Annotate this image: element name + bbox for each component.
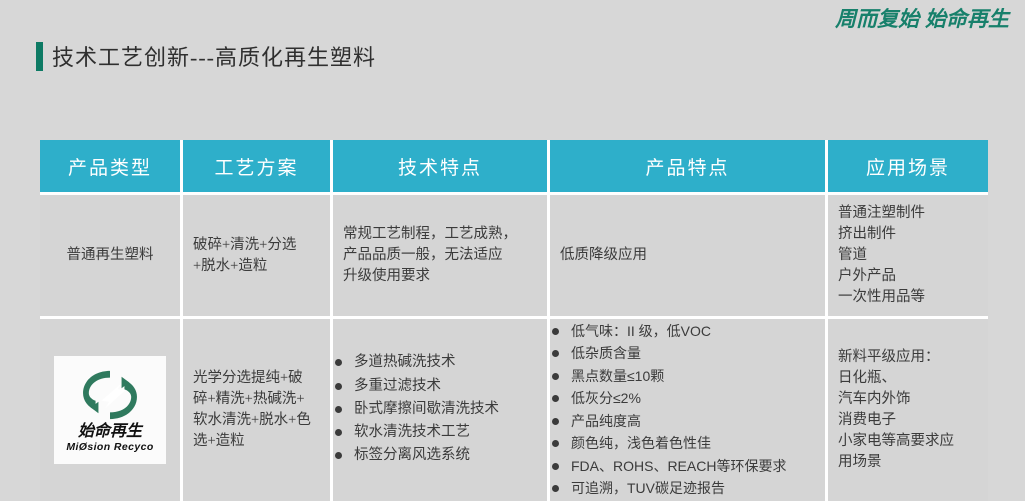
table-row: 普通再生塑料 破碎+清洗+分选 +脱水+造粒 常规工艺制程，工艺成熟， 产品品质… bbox=[40, 195, 988, 319]
application-line: 汽车内外饰 bbox=[838, 389, 978, 410]
column-header-applications: 应用场景 bbox=[828, 140, 988, 195]
table-header-row: 产品类型 工艺方案 技术特点 产品特点 应用场景 bbox=[40, 140, 988, 195]
cell-product-type: 普通再生塑料 bbox=[40, 195, 183, 319]
list-item: 多道热碱洗技术 bbox=[335, 352, 547, 374]
process-line: 选+造粒 bbox=[193, 431, 320, 452]
tech-feature-line: 升级使用要求 bbox=[343, 266, 537, 287]
process-line: 破碎+清洗+分选 bbox=[193, 235, 320, 256]
list-item: 卧式摩擦间歇清洗技术 bbox=[335, 399, 547, 421]
application-line: 消费电子 bbox=[838, 410, 978, 431]
slide-title-row: 技术工艺创新---高质化再生塑料 bbox=[36, 40, 376, 72]
application-line: 挤出制件 bbox=[838, 224, 978, 245]
list-item: 软水清洗技术工艺 bbox=[335, 422, 547, 444]
application-line: 新料平级应用： bbox=[838, 347, 978, 368]
cell-tech-features: 常规工艺制程，工艺成熟， 产品品质一般，无法适应 升级使用要求 bbox=[333, 195, 550, 319]
column-header-product-features: 产品特点 bbox=[550, 140, 828, 195]
comparison-table-wrapper: 产品类型 工艺方案 技术特点 产品特点 应用场景 普通 bbox=[40, 140, 988, 501]
list-item: 低杂质含量 bbox=[552, 343, 825, 364]
cell-applications: 普通注塑制件 挤出制件 管道 户外产品 一次性用品等 bbox=[828, 195, 988, 319]
tech-features-list: 多道热碱洗技术 多重过滤技术 卧式摩擦间歇清洗技术 软水清洗技术工艺 标签分离风… bbox=[333, 352, 547, 467]
product-features-list: 低气味：II 级，低VOC 低杂质含量 黑点数量≤10颗 低灰分≤2% 产品纯度… bbox=[550, 321, 825, 500]
column-header-label: 工艺方案 bbox=[183, 153, 330, 180]
process-line: 光学分选提纯+破 bbox=[193, 368, 320, 389]
recycle-arrows-icon bbox=[79, 369, 141, 421]
page-title: 技术工艺创新---高质化再生塑料 bbox=[52, 40, 376, 72]
list-item: 低灰分≤2% bbox=[552, 388, 825, 409]
tech-features-text: 常规工艺制程，工艺成熟， 产品品质一般，无法适应 升级使用要求 bbox=[333, 216, 547, 295]
cell-process: 光学分选提纯+破 碎+精洗+热碱洗+ 软水清洗+脱水+色 选+造粒 bbox=[183, 319, 333, 501]
title-accent-bar bbox=[36, 42, 43, 71]
column-header-product-type: 产品类型 bbox=[40, 140, 183, 195]
comparison-table: 产品类型 工艺方案 技术特点 产品特点 应用场景 普通 bbox=[40, 140, 988, 501]
application-line: 户外产品 bbox=[838, 266, 978, 287]
column-header-label: 产品类型 bbox=[40, 153, 180, 180]
process-line: 软水清洗+脱水+色 bbox=[193, 410, 320, 431]
company-logo: 始命再生 MiØsion Recyco bbox=[54, 356, 166, 464]
cell-process: 破碎+清洗+分选 +脱水+造粒 bbox=[183, 195, 333, 319]
application-line: 管道 bbox=[838, 245, 978, 266]
process-line: +脱水+造粒 bbox=[193, 256, 320, 277]
brand-slogan: 周而复始 始命再生 bbox=[835, 3, 1009, 33]
product-type-label: 普通再生塑料 bbox=[40, 237, 180, 274]
process-line: 碎+精洗+热碱洗+ bbox=[193, 389, 320, 410]
cell-product-type-logo: 始命再生 MiØsion Recyco bbox=[40, 319, 183, 501]
cell-applications: 新料平级应用： 日化瓶、 汽车内外饰 消费电子 小家电等高要求应 用场景 bbox=[828, 319, 988, 501]
list-item: 颜色纯，浅色着色性佳 bbox=[552, 433, 825, 454]
list-item: 产品纯度高 bbox=[552, 411, 825, 432]
application-line: 一次性用品等 bbox=[838, 287, 978, 308]
list-item: 标签分离风选系统 bbox=[335, 445, 547, 467]
list-item: FDA、ROHS、REACH等环保要求 bbox=[552, 456, 825, 477]
column-header-tech-features: 技术特点 bbox=[333, 140, 550, 195]
application-line: 日化瓶、 bbox=[838, 368, 978, 389]
table-row: 始命再生 MiØsion Recyco 光学分选提纯+破 碎+精洗+热碱洗+ 软… bbox=[40, 319, 988, 501]
list-item: 多重过滤技术 bbox=[335, 376, 547, 398]
tech-feature-line: 常规工艺制程，工艺成熟， bbox=[343, 224, 537, 245]
application-line: 普通注塑制件 bbox=[838, 203, 978, 224]
logo-cn-name: 始命再生 bbox=[78, 424, 142, 441]
process-text: 破碎+清洗+分选 +脱水+造粒 bbox=[183, 227, 330, 285]
logo-en-name: MiØsion Recyco bbox=[66, 442, 153, 453]
product-feature-line: 低质降级应用 bbox=[550, 237, 825, 274]
table-header: 产品类型 工艺方案 技术特点 产品特点 应用场景 bbox=[40, 140, 988, 195]
list-item: 低气味：II 级，低VOC bbox=[552, 321, 825, 342]
cell-product-features: 低质降级应用 bbox=[550, 195, 828, 319]
table-body: 普通再生塑料 破碎+清洗+分选 +脱水+造粒 常规工艺制程，工艺成熟， 产品品质… bbox=[40, 195, 988, 501]
column-header-label: 产品特点 bbox=[550, 153, 825, 180]
cell-tech-features: 多道热碱洗技术 多重过滤技术 卧式摩擦间歇清洗技术 软水清洗技术工艺 标签分离风… bbox=[333, 319, 550, 501]
column-header-process: 工艺方案 bbox=[183, 140, 333, 195]
cell-product-features: 低气味：II 级，低VOC 低杂质含量 黑点数量≤10颗 低灰分≤2% 产品纯度… bbox=[550, 319, 828, 501]
column-header-label: 应用场景 bbox=[828, 153, 988, 180]
application-line: 用场景 bbox=[838, 452, 978, 473]
applications-text: 普通注塑制件 挤出制件 管道 户外产品 一次性用品等 bbox=[828, 195, 988, 316]
process-text: 光学分选提纯+破 碎+精洗+热碱洗+ 软水清洗+脱水+色 选+造粒 bbox=[183, 360, 330, 460]
applications-text: 新料平级应用： 日化瓶、 汽车内外饰 消费电子 小家电等高要求应 用场景 bbox=[828, 339, 988, 481]
tech-feature-line: 产品品质一般，无法适应 bbox=[343, 245, 537, 266]
list-item: 可追溯，TUV碳足迹报告 bbox=[552, 478, 825, 499]
column-header-label: 技术特点 bbox=[333, 153, 547, 180]
application-line: 小家电等高要求应 bbox=[838, 431, 978, 452]
list-item: 黑点数量≤10颗 bbox=[552, 366, 825, 387]
